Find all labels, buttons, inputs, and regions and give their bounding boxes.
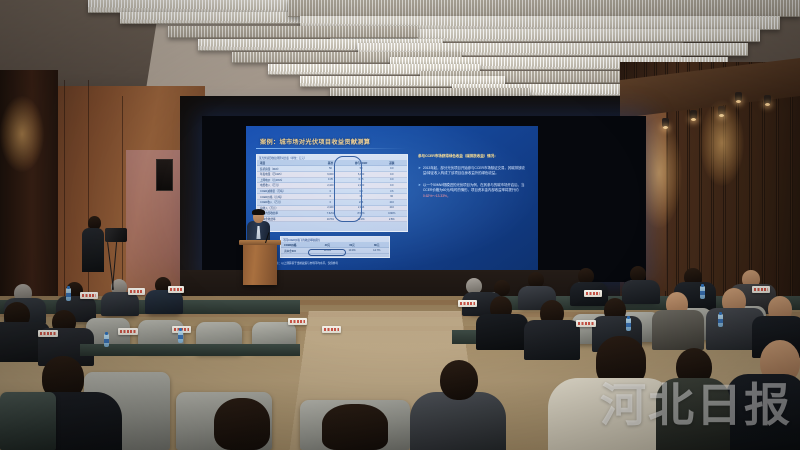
table-cell: 0.90% bbox=[376, 212, 407, 215]
name-placard bbox=[752, 286, 770, 293]
slide-data-table: 某光伏项目收益测算对比表（单位：万元） 项目 基准 参与CCER 差额 装机容量… bbox=[256, 154, 408, 232]
video-camera-icon bbox=[105, 228, 127, 242]
slide-bullet-highlight: 0.62%～13.33%。 bbox=[423, 194, 451, 198]
audience-head bbox=[322, 404, 388, 450]
audience-head bbox=[214, 398, 270, 450]
chandelier-panel bbox=[168, 26, 418, 38]
podium bbox=[243, 243, 277, 285]
slide-bullet: ➤ 以一个50MW规模进的光伏项目为例，在其参与的碳市场开启后，当CCER价格为… bbox=[418, 183, 528, 200]
name-placard bbox=[128, 288, 145, 295]
table-row: 资本金收益率 10.5% 13.3% 2.8% bbox=[257, 217, 407, 223]
water-bottle bbox=[178, 330, 183, 343]
conference-hall-photo: 案例：城市场对光伏项目收益贡献测算 某光伏项目收益测算对比表（单位：万元） 项目… bbox=[0, 0, 800, 450]
name-placard bbox=[168, 286, 184, 293]
audience-body bbox=[656, 378, 730, 450]
slide-bullet-text: 以一个50MW规模进的光伏项目为例，在其参与的碳市场开启后，当CCER价格为60… bbox=[423, 183, 528, 200]
track-light-icon bbox=[690, 110, 697, 119]
table-header-cell: 差额 bbox=[376, 161, 407, 165]
table-cell: 0.0 bbox=[376, 178, 407, 181]
water-bottle bbox=[700, 286, 705, 299]
slide-bullet-text: 2013年起，部分光伏项目开始参与CCER市场核证交易，其碳排放收益/绿证收入构… bbox=[423, 166, 528, 177]
table-cell: CCER收入（万元） bbox=[257, 200, 315, 204]
table-header-cell: 项目 bbox=[257, 161, 315, 165]
table-cell: 2.8% bbox=[376, 218, 407, 221]
slide-bullet-text-part: 以一个50MW规模进的光伏项目为例，在其参与的碳市场开启后，当CCER价格为60… bbox=[423, 183, 525, 193]
audience-body bbox=[524, 320, 580, 360]
audience-head bbox=[440, 360, 478, 400]
speaker-box-icon bbox=[156, 159, 173, 191]
slide-footnote: 注：以上测算基于当前政策与市场平均水平，仅供参考 bbox=[276, 261, 338, 265]
name-placard bbox=[118, 328, 138, 335]
table2-cell: 14.7% bbox=[364, 249, 389, 252]
slide-section-heading: 参与CCER市场获得绿色收益（碳排放收益）情况： bbox=[418, 154, 528, 160]
name-placard bbox=[288, 318, 307, 325]
table-cell: 上网电价（元/kWh） bbox=[257, 178, 315, 182]
name-placard bbox=[576, 320, 596, 327]
presenter-hair bbox=[252, 209, 265, 215]
name-placard bbox=[458, 300, 477, 307]
table-cell: 3.6 bbox=[376, 190, 407, 193]
chandelier-panel bbox=[288, 0, 800, 17]
name-placard bbox=[38, 330, 58, 337]
podium-top bbox=[239, 240, 281, 245]
slide-title: 案例：城市场对光伏项目收益贡献测算 bbox=[260, 137, 370, 146]
table-cell: 总收入（万元） bbox=[257, 206, 315, 210]
water-bottle bbox=[626, 318, 631, 331]
audience-body bbox=[145, 290, 183, 314]
table-cell: CCER价格（元/吨） bbox=[257, 195, 315, 199]
table-cell: 项目内部收益率 bbox=[257, 211, 315, 215]
bullet-marker-icon: ➤ bbox=[418, 166, 421, 177]
table-cell: 0.0 bbox=[376, 173, 407, 176]
name-placard bbox=[80, 292, 98, 299]
name-placard bbox=[584, 290, 602, 297]
audience-body bbox=[476, 314, 528, 350]
slide-bullet: ➤ 2013年起，部分光伏项目开始参与CCER市场核证交易，其碳排放收益/绿证收… bbox=[418, 166, 528, 177]
chair bbox=[0, 392, 56, 450]
table-highlight-box bbox=[334, 156, 362, 222]
water-bottle bbox=[718, 314, 723, 327]
presentation-screen[interactable]: 案例：城市场对光伏项目收益贡献测算 某光伏项目收益测算对比表（单位：万元） 项目… bbox=[246, 126, 538, 272]
table-cell: 216 bbox=[376, 201, 407, 204]
table-cell: 年发电量（万kWh） bbox=[257, 172, 315, 176]
table-cell: 0.0 bbox=[376, 167, 407, 170]
audience-body bbox=[101, 292, 139, 316]
track-light-icon bbox=[764, 95, 771, 104]
track-light-icon bbox=[735, 92, 742, 101]
water-bottle bbox=[66, 288, 71, 301]
name-placard bbox=[322, 326, 341, 333]
bullet-marker-icon: ➤ bbox=[418, 183, 421, 200]
table2-header-cell: 60元 bbox=[340, 243, 365, 247]
table-cell: CCER减排量（万吨） bbox=[257, 189, 315, 193]
table2-highlight-box bbox=[308, 249, 346, 256]
slide-text-column: 参与CCER市场获得绿色收益（碳排放收益）情况： ➤ 2013年起，部分光伏项目… bbox=[418, 154, 528, 200]
table2-header-cell: 80元 bbox=[364, 243, 389, 247]
table2-header-cell: 40元 bbox=[315, 243, 340, 247]
audience-body bbox=[410, 392, 506, 450]
table-cell: 电费收入（万元） bbox=[257, 183, 315, 187]
audience-body bbox=[726, 374, 800, 450]
audience-body bbox=[652, 310, 704, 350]
table-cell: 60 bbox=[376, 195, 407, 198]
table-cell: 216 bbox=[376, 206, 407, 209]
table-cell: 0.0 bbox=[376, 184, 407, 187]
audience-body bbox=[622, 280, 660, 304]
slide-title-underline bbox=[256, 148, 406, 149]
track-light-icon bbox=[718, 106, 725, 115]
track-light-icon bbox=[662, 118, 669, 127]
videographer-body bbox=[82, 228, 104, 272]
table-row-desk bbox=[80, 344, 300, 356]
table2-header-cell: CCER价格 bbox=[281, 243, 315, 247]
water-bottle bbox=[104, 334, 109, 347]
table-cell: 装机容量（MW） bbox=[257, 167, 315, 171]
